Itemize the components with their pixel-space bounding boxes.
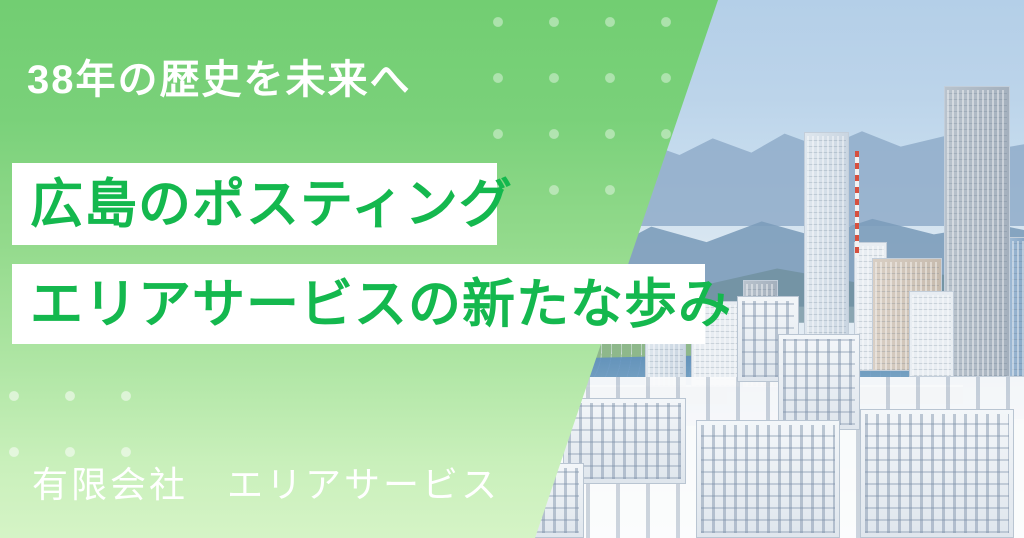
- company-name: 有限会社 エリアサービス: [32, 456, 500, 508]
- headline-band-secondary: エリアサービスの新たな歩み: [12, 264, 705, 344]
- headline-band-primary-text: 広島のポスティング: [30, 178, 513, 231]
- headline-tagline: 38年の歴史を未来へ: [27, 58, 412, 102]
- hero-banner: 38年の歴史を未来へ 広島のポスティング エリアサービスの新たな歩み 有限会社 …: [0, 0, 1024, 538]
- building-icon: [804, 132, 849, 358]
- headline-band-secondary-text: エリアサービスの新たな歩み: [30, 278, 732, 331]
- building-icon: [1009, 237, 1024, 377]
- construction-crane-icon: [855, 151, 859, 259]
- apartment-block-icon: [696, 420, 839, 538]
- building-icon: [909, 291, 954, 377]
- building-icon: [778, 334, 860, 431]
- headline-band-primary: 広島のポスティング: [12, 163, 497, 245]
- apartment-block-icon: [860, 409, 1014, 538]
